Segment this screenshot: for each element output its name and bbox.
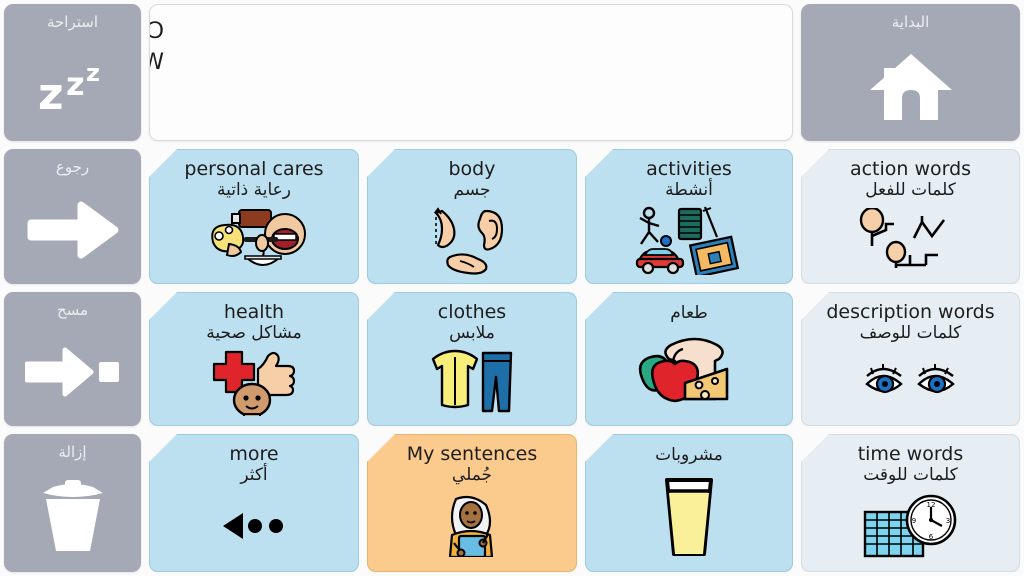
svg-text:z: z — [38, 69, 64, 115]
folder-personal-cares[interactable]: personal cares رعاية ذاتية — [149, 149, 359, 284]
folder-label-ar: كلمات للوصف — [860, 323, 962, 344]
system-button-rest-wrapper: استراحة z z z — [0, 0, 145, 145]
folder-label-ar: أنشطة — [665, 180, 713, 201]
chat-window[interactable]: Chat writing area Write chat sentences h… — [149, 4, 793, 141]
folder-cell-wrapper: clothes ملابس — [363, 288, 581, 430]
communication-board: استراحة z z z Chat writing area Write ch… — [0, 0, 1024, 576]
svg-text:6: 6 — [928, 533, 933, 541]
folder-label-ar: جُملي — [452, 465, 492, 486]
more-arrow-dots-icon — [150, 486, 358, 571]
system-button-back-label: رجوع — [56, 160, 89, 175]
folder-label-en: description words — [826, 302, 994, 323]
folder-label-ar: كلمات للوقت — [863, 465, 958, 486]
folder-body[interactable]: body جسم — [367, 149, 577, 284]
folder-label-ar: جسم — [454, 180, 491, 201]
folder-cell-wrapper: description words كلمات للوصف — [797, 288, 1024, 430]
svg-text:z: z — [66, 65, 85, 103]
home-icon — [801, 30, 1020, 141]
folder-label-en: body — [449, 159, 496, 180]
folder-label-en: health — [224, 302, 284, 323]
folder-more[interactable]: more أكثر — [149, 434, 359, 572]
folder-label-ar: مشاكل صحية — [206, 323, 301, 344]
system-button-delete-wrapper: إزالة — [0, 430, 145, 576]
folder-label-en: personal cares — [184, 159, 323, 180]
folder-time-words[interactable]: time words كلمات للوقت 12 3 6 9 — [801, 434, 1020, 572]
svg-text:3: 3 — [945, 517, 949, 525]
folder-label-ar: أكثر — [240, 465, 267, 486]
system-button-back[interactable]: رجوع — [4, 149, 141, 284]
system-button-home-label: البداية — [892, 15, 930, 30]
action-words-icon — [802, 201, 1019, 283]
folder-food[interactable]: طعام — [585, 292, 793, 426]
system-button-home[interactable]: البداية — [801, 4, 1020, 141]
folder-drinks[interactable]: مشروبات — [585, 434, 793, 572]
folder-cell-wrapper: activities أنشطة — [581, 145, 797, 288]
folder-cell-wrapper: body جسم — [363, 145, 581, 288]
system-button-delete-label: إزالة — [58, 445, 86, 460]
system-button-home-wrapper: البداية — [797, 0, 1024, 145]
folder-clothes[interactable]: clothes ملابس — [367, 292, 577, 426]
trash-can-icon — [4, 460, 141, 572]
folder-label-en: time words — [858, 444, 964, 465]
svg-text:9: 9 — [911, 517, 915, 525]
folder-cell-wrapper: action words كلمات للفعل — [797, 145, 1024, 288]
system-button-clear-label: مسح — [57, 303, 88, 318]
folder-health[interactable]: health مشاكل صحية — [149, 292, 359, 426]
clothes-icon — [368, 344, 576, 425]
folder-cell-wrapper: مشروبات — [581, 430, 797, 576]
zzz-sleep-icon: z z z — [4, 30, 141, 141]
system-button-clear[interactable]: مسح — [4, 292, 141, 426]
activities-icon — [586, 201, 792, 283]
chat-text-mirrored: Chat writing area Write chat sentences h… — [149, 16, 164, 78]
chat-line-2: Write chat sentences here. — [149, 47, 164, 78]
folder-action-words[interactable]: action words كلمات للفعل — [801, 149, 1020, 284]
folder-description-words[interactable]: description words كلمات للوصف — [801, 292, 1020, 426]
drink-glass-icon — [586, 466, 792, 571]
folder-label-ar: كلمات للفعل — [865, 180, 956, 201]
folder-label-en: activities — [646, 159, 732, 180]
eyes-icon — [802, 344, 1019, 425]
chat-window-wrapper: Chat writing area Write chat sentences h… — [145, 0, 797, 145]
arrow-to-square-icon — [4, 318, 141, 426]
arrow-right-icon — [4, 175, 141, 284]
folder-label-en: action words — [850, 159, 971, 180]
folder-label-ar: مشروبات — [655, 445, 723, 466]
system-button-clear-wrapper: مسح — [0, 288, 145, 430]
folder-label-en: more — [229, 444, 278, 465]
health-icon — [150, 344, 358, 425]
folder-label-ar: ملابس — [449, 323, 495, 344]
body-parts-icon — [368, 201, 576, 283]
folder-label-en: clothes — [438, 302, 506, 323]
folder-label-ar: طعام — [670, 303, 707, 324]
system-button-rest[interactable]: استراحة z z z — [4, 4, 141, 141]
system-button-rest-label: استراحة — [47, 15, 98, 30]
food-icon — [586, 324, 792, 425]
calendar-clock-icon: 12 3 6 9 — [802, 486, 1019, 571]
folder-label-en: My sentences — [407, 444, 538, 465]
folder-cell-wrapper: طعام — [581, 288, 797, 430]
folder-cell-wrapper: health مشاكل صحية — [145, 288, 363, 430]
folder-cell-wrapper: time words كلمات للوقت 12 3 6 9 — [797, 430, 1024, 576]
svg-text:z: z — [86, 59, 100, 87]
folder-cell-wrapper: personal cares رعاية ذاتية — [145, 145, 363, 288]
chat-line-1: Chat writing area — [149, 16, 164, 47]
system-button-delete[interactable]: إزالة — [4, 434, 141, 572]
system-button-back-wrapper: رجوع — [0, 145, 145, 288]
person-writing-icon — [368, 486, 576, 571]
folder-my-sentences[interactable]: My sentences جُملي — [367, 434, 577, 572]
personal-care-icon — [150, 201, 358, 283]
folder-cell-wrapper: My sentences جُملي — [363, 430, 581, 576]
folder-activities[interactable]: activities أنشطة — [585, 149, 793, 284]
folder-label-ar: رعاية ذاتية — [217, 180, 291, 201]
folder-cell-wrapper: more أكثر — [145, 430, 363, 576]
